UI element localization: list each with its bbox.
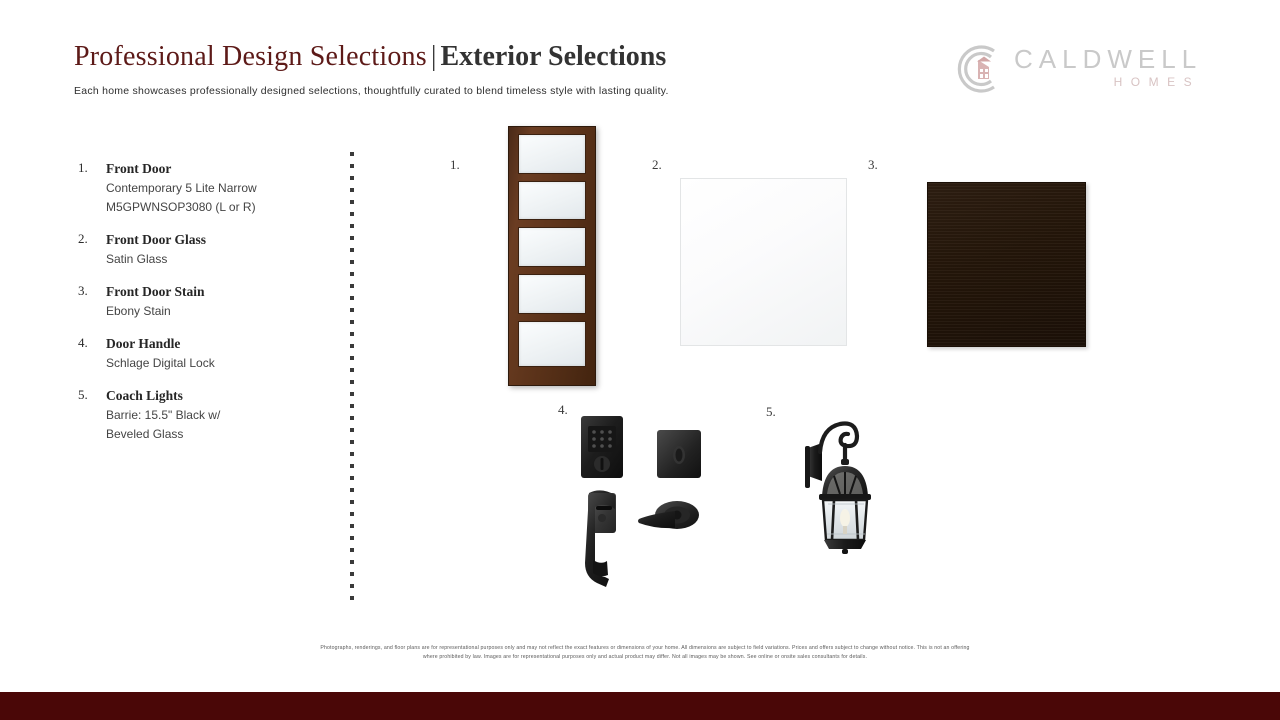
list-item: 1. Front Door Contemporary 5 Lite Narrow… — [78, 160, 338, 216]
lantern-dome-glyph — [819, 459, 871, 500]
brand-tagline: HOMES — [1014, 74, 1202, 90]
list-item-body: Front Door Contemporary 5 Lite Narrow M5… — [106, 160, 338, 216]
list-item-body: Front Door Glass Satin Glass — [106, 231, 338, 268]
beveled-glass-cage-glyph — [823, 500, 867, 540]
brand-logo: CALDWELL HOMES — [948, 40, 1184, 98]
handleset-grip-glyph — [585, 490, 616, 587]
brand-wordmark: CALDWELL HOMES — [1014, 44, 1202, 90]
door-lite — [518, 227, 586, 267]
ebony-stain-swatch — [927, 182, 1086, 347]
list-item-title: Front Door Stain — [106, 283, 338, 301]
image-label-4: 4. — [558, 402, 568, 418]
door-lite — [518, 321, 586, 367]
list-item: 4. Door Handle Schlage Digital Lock — [78, 335, 338, 372]
image-label-3: 3. — [868, 157, 878, 173]
list-item-desc-2: Beveled Glass — [106, 426, 338, 443]
list-item-number: 3. — [78, 283, 100, 299]
list-item-desc-1: Satin Glass — [106, 251, 338, 268]
list-item-number: 1. — [78, 160, 100, 176]
disclaimer-line-2: where prohibited by law. Images are for … — [215, 653, 1075, 662]
lever-handle-glyph — [638, 501, 699, 529]
door-lite — [518, 181, 586, 221]
page-title-secondary: Exterior Selections — [440, 41, 666, 72]
list-item-desc-1: Barrie: 15.5" Black w/ — [106, 407, 338, 424]
schlage-digital-lock-image — [575, 410, 715, 605]
disclaimer-line-1: Photographs, renderings, and floor plans… — [215, 644, 1075, 653]
page-subtitle: Each home showcases professionally desig… — [74, 85, 669, 97]
legal-disclaimer: Photographs, renderings, and floor plans… — [215, 644, 1075, 662]
list-item-title: Front Door Glass — [106, 231, 338, 249]
page-title-primary: Professional Design Selections — [74, 41, 427, 72]
list-item-desc-1: Schlage Digital Lock — [106, 355, 338, 372]
list-item-body: Coach Lights Barrie: 15.5" Black w/ Beve… — [106, 387, 338, 443]
list-item: 5. Coach Lights Barrie: 15.5" Black w/ B… — [78, 387, 338, 443]
list-item-number: 5. — [78, 387, 100, 403]
selection-list: 1. Front Door Contemporary 5 Lite Narrow… — [78, 160, 338, 458]
thumbturn-plate-glyph — [657, 430, 701, 478]
list-item-number: 2. — [78, 231, 100, 247]
satin-glass-swatch — [680, 178, 847, 346]
list-item-number: 4. — [78, 335, 100, 351]
image-label-1: 1. — [450, 157, 460, 173]
door-lite — [518, 274, 586, 314]
page-title: Professional Design Selections|Exterior … — [74, 40, 666, 74]
list-item-body: Front Door Stain Ebony Stain — [106, 283, 338, 320]
list-item-title: Door Handle — [106, 335, 338, 353]
page-title-divider: | — [427, 41, 441, 72]
list-item-desc-2: M5GPWNSOP3080 (L or R) — [106, 199, 338, 216]
list-item: 2. Front Door Glass Satin Glass — [78, 231, 338, 268]
door-slab — [508, 126, 596, 386]
lantern-base-glyph — [824, 540, 866, 554]
door-lite — [518, 134, 586, 174]
circle-c-house-icon — [948, 40, 1006, 98]
scroll-arm-glyph — [820, 424, 857, 462]
list-item-desc-1: Contemporary 5 Lite Narrow — [106, 180, 338, 197]
list-item-body: Door Handle Schlage Digital Lock — [106, 335, 338, 372]
list-item-title: Coach Lights — [106, 387, 338, 405]
house-glyph — [977, 57, 991, 80]
keypad-deadbolt-glyph — [581, 416, 623, 478]
vertical-dotted-divider — [350, 152, 354, 604]
list-item-desc-1: Ebony Stain — [106, 303, 338, 320]
list-item: 3. Front Door Stain Ebony Stain — [78, 283, 338, 320]
list-item-title: Front Door — [106, 160, 338, 178]
image-label-2: 2. — [652, 157, 662, 173]
coach-light-image — [800, 412, 896, 562]
bottom-accent-bar — [0, 692, 1280, 720]
image-label-5: 5. — [766, 404, 776, 420]
front-door-image — [508, 126, 596, 386]
brand-name: CALDWELL — [1014, 44, 1202, 74]
